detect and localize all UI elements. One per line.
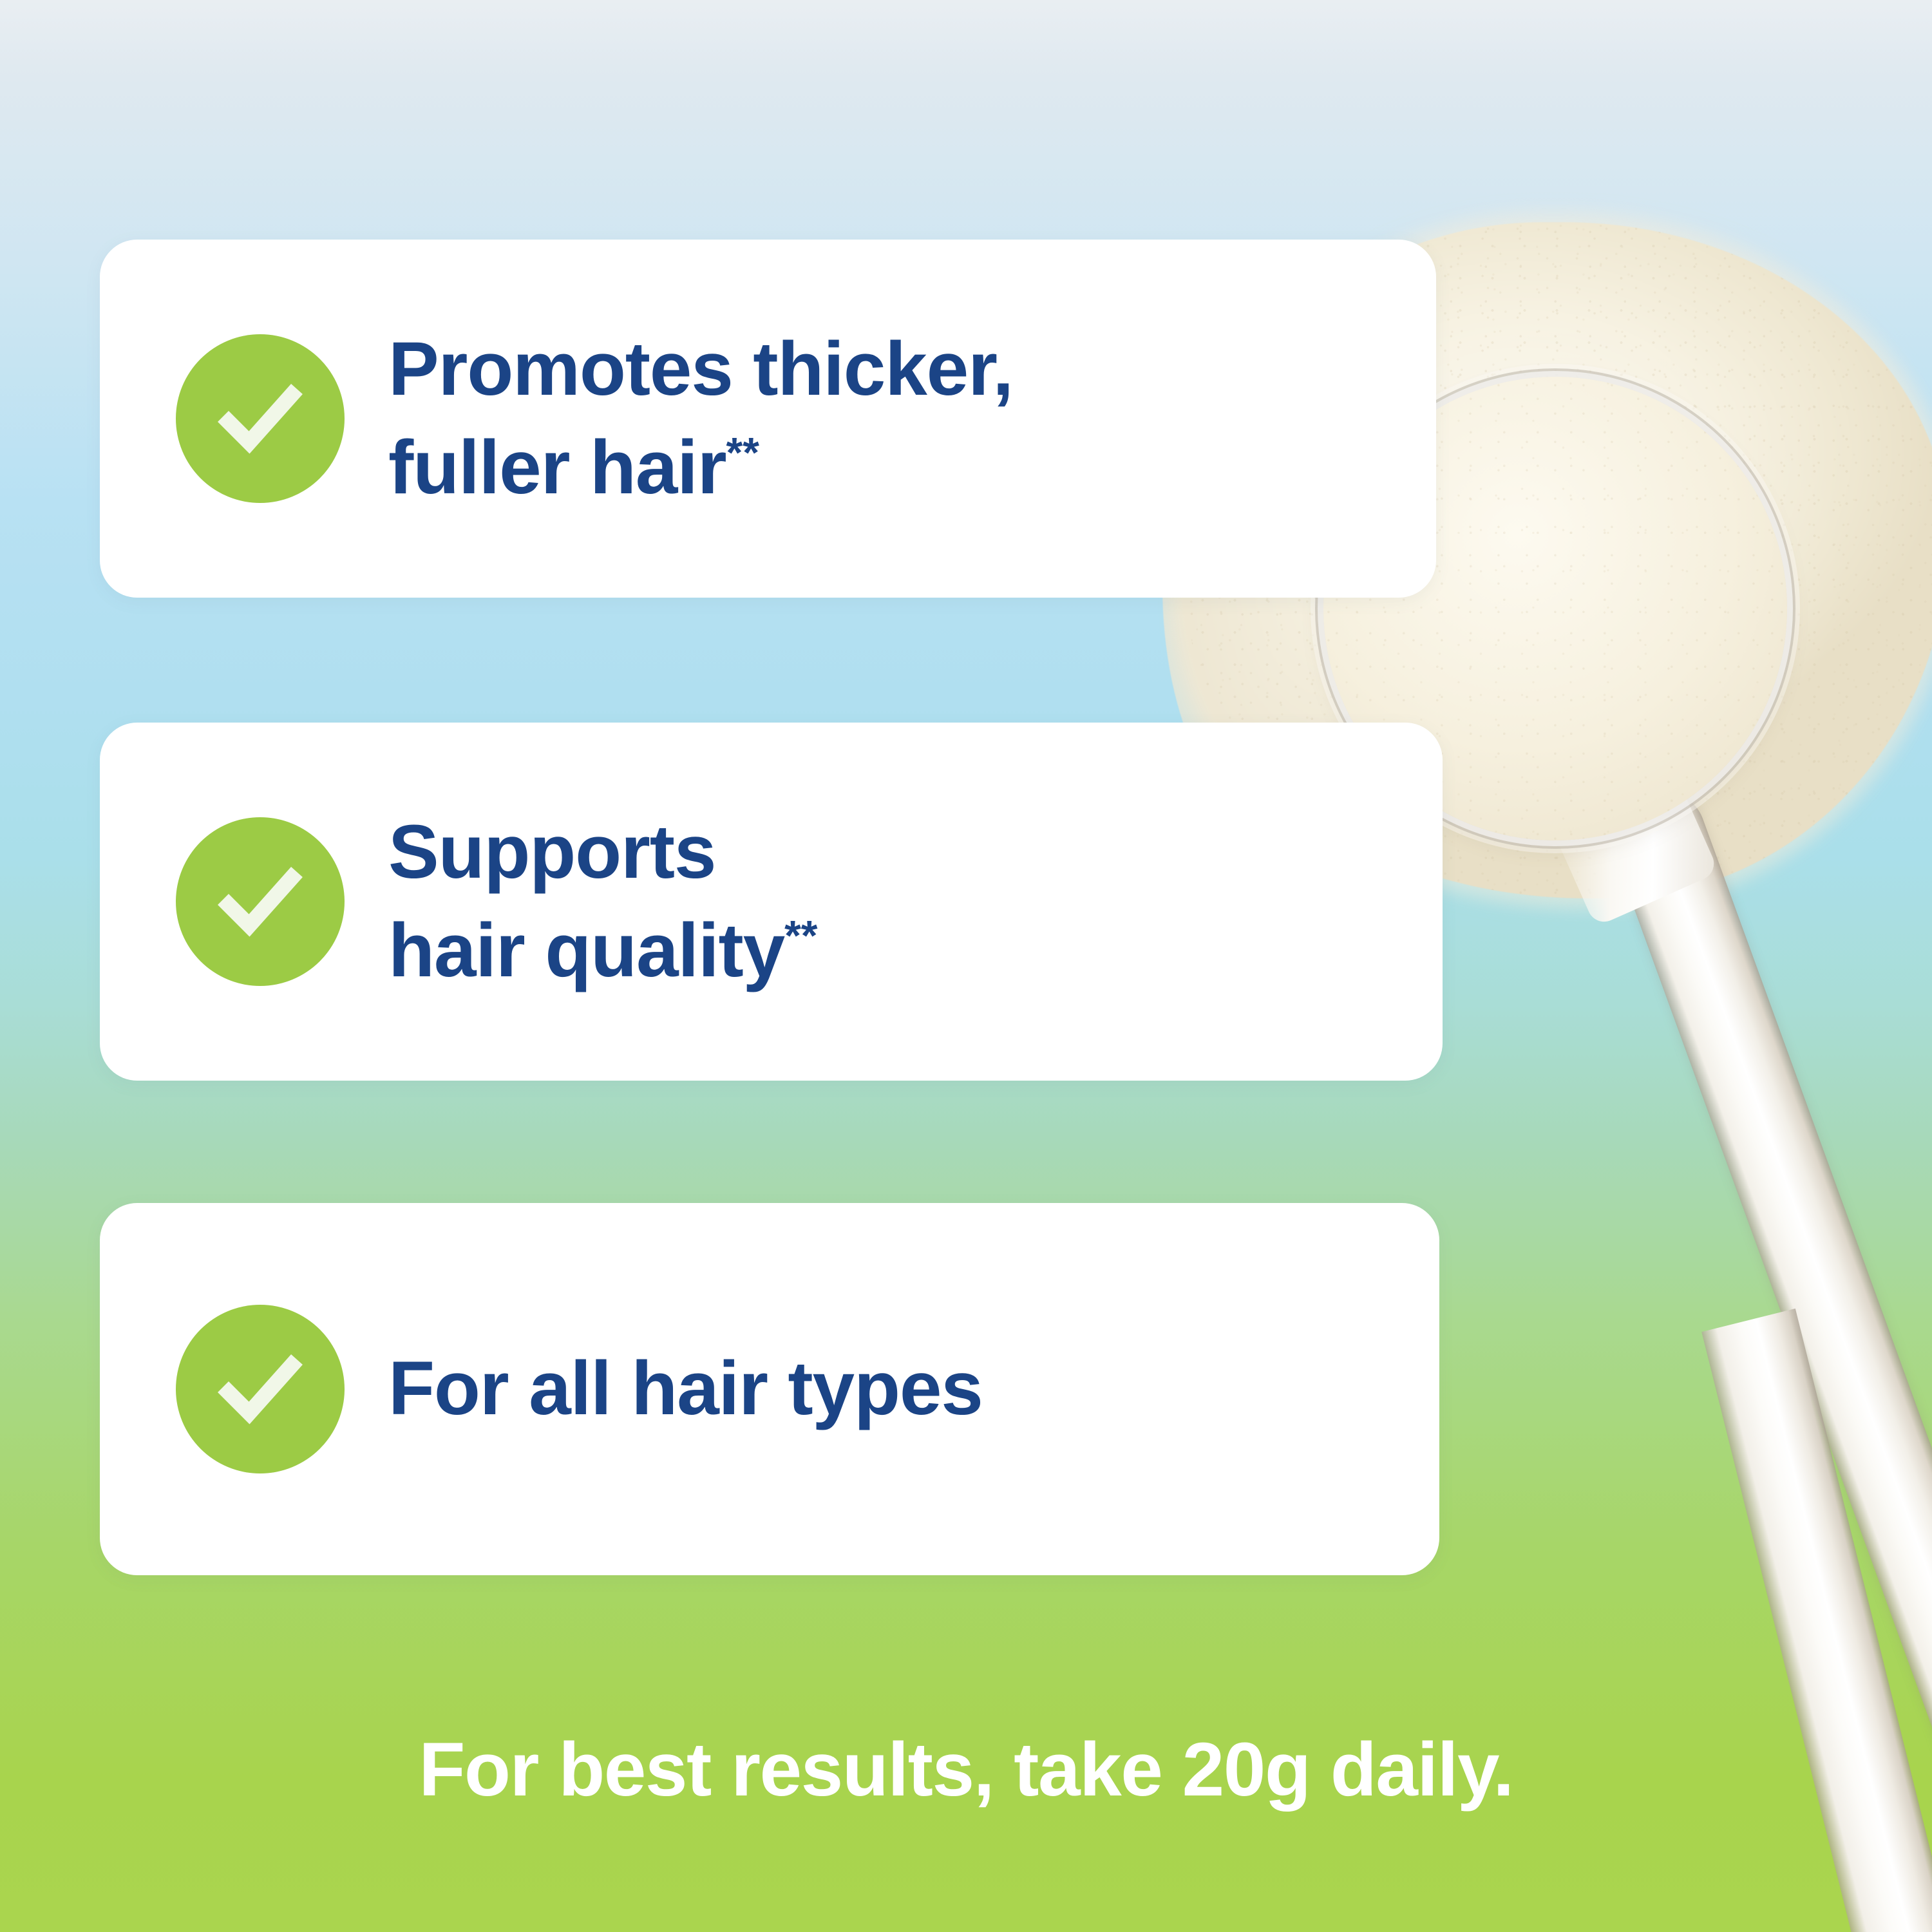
benefit-line-1a: Promotes thicker, [388, 327, 1013, 412]
dosage-note: For best results, take 20g daily. [0, 1726, 1932, 1814]
benefit-card-2: Supportshair quality** [100, 723, 1443, 1081]
benefit-line-3a: For all hair types [388, 1346, 983, 1431]
benefit-line-1b: fuller hair [388, 425, 726, 510]
benefit-card-3: For all hair types [100, 1203, 1439, 1575]
check-icon [176, 334, 345, 503]
check-icon [176, 1305, 345, 1473]
benefit-text-3: For all hair types [388, 1340, 983, 1438]
promo-image-canvas: Promotes thicker,fuller hair** Supportsh… [0, 0, 1932, 1932]
benefit-text-2: Supportshair quality** [388, 803, 818, 1001]
benefit-footnote-2: ** [784, 913, 817, 960]
benefit-footnote-1: ** [726, 430, 759, 477]
benefit-card-1: Promotes thicker,fuller hair** [100, 240, 1436, 598]
benefit-text-1: Promotes thicker,fuller hair** [388, 320, 1013, 518]
benefit-line-2a: Supports [388, 810, 715, 895]
benefit-line-2b: hair quality [388, 908, 784, 993]
benefit-card-list: Promotes thicker,fuller hair** Supportsh… [0, 0, 1932, 1932]
check-icon [176, 817, 345, 986]
